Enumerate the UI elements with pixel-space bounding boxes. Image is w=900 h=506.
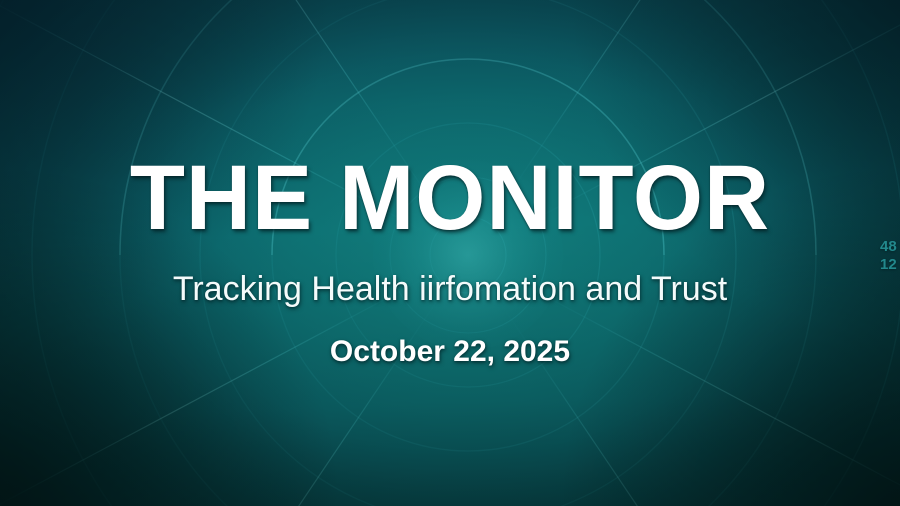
date-label: October 22, 2025 [0,337,900,367]
edge-readout-line-1: 48 [880,238,900,256]
edge-readout: 48 12 [880,238,900,274]
title-text-block: THE MONITOR Tracking Health iirfomation … [0,0,900,506]
edge-readout-line-2: 12 [880,256,900,274]
subtitle: Tracking Health iirfomation and Trust [0,272,900,306]
title-slide: THE MONITOR Tracking Health iirfomation … [0,0,900,506]
page-title: THE MONITOR [9,152,891,244]
